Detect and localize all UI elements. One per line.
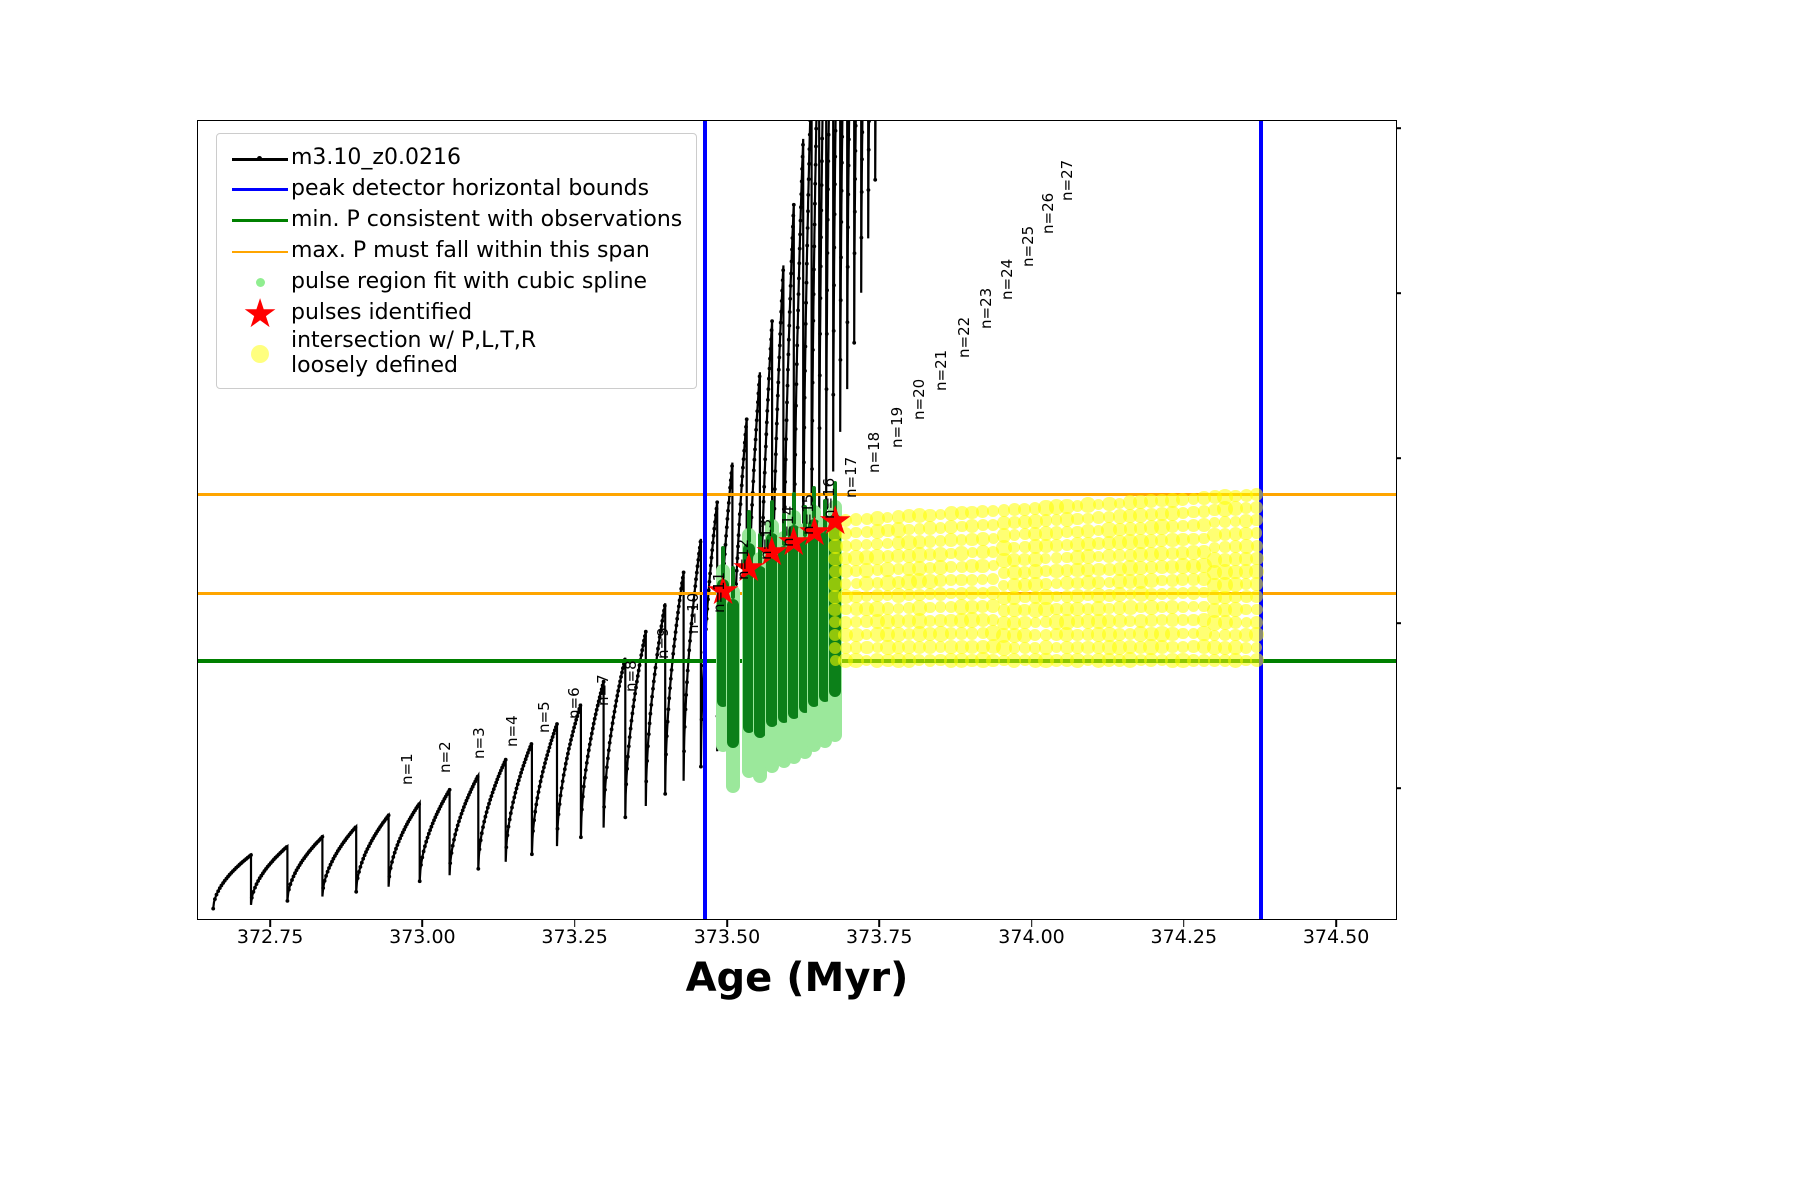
intersection-marker — [1251, 604, 1263, 616]
legend-entry: pulse region fit with cubic spline — [229, 267, 682, 298]
pulse-number-label: n=14 — [779, 506, 797, 547]
pulse-number-label: n=19 — [888, 407, 906, 448]
legend-label: max. P must fall within this span — [291, 239, 650, 264]
pulse-number-label: n=4 — [503, 715, 521, 747]
legend-key-star: ★ — [229, 301, 291, 327]
x-tick-label: 374.50 — [1303, 926, 1369, 948]
pulse-number-label: n=18 — [865, 432, 883, 473]
pulse-number-label: n=13 — [757, 519, 775, 560]
pulse-number-label: n=25 — [1019, 226, 1037, 267]
pulse-number-label: n=20 — [910, 378, 928, 419]
x-tick-label: 373.50 — [694, 926, 760, 948]
legend-key-line — [229, 177, 291, 203]
legend-line-swatch — [232, 188, 288, 191]
legend-entry: peak detector horizontal bounds — [229, 174, 682, 205]
x-tick-label: 372.75 — [237, 926, 303, 948]
legend-line-swatch — [232, 251, 288, 253]
pulse-number-label: n=8 — [622, 660, 640, 692]
pulse-number-label: n=9 — [654, 627, 672, 659]
intersection-marker — [1251, 540, 1263, 552]
legend-point-marker — [257, 156, 262, 161]
pulse-number-label: n=27 — [1058, 160, 1076, 201]
pulse-number-label: n=10 — [684, 593, 702, 634]
pulse-number-label: n=21 — [932, 349, 950, 390]
legend-label: pulses identified — [291, 301, 472, 326]
pulse-region-bar — [727, 599, 739, 747]
legend-label: min. P consistent with observations — [291, 208, 682, 233]
figure-canvas: FM period (days) Age (Myr) 2004006008001… — [0, 0, 1800, 1200]
pulse-number-label: n=16 — [820, 477, 838, 518]
plot-axes: ★★★★★★ n=1n=2n=3n=4n=5n=6n=7n=8n=9n=10n=… — [197, 120, 1397, 920]
pulse-number-label: n=17 — [842, 457, 860, 498]
legend-entry: intersection w/ P,L,T,R loosely defined — [229, 329, 682, 378]
x-tick-label: 373.00 — [389, 926, 455, 948]
legend-key-dot — [229, 341, 291, 367]
legend: m3.10_z0.0216peak detector horizontal bo… — [216, 133, 697, 389]
x-tick-label: 373.25 — [541, 926, 607, 948]
intersection-marker — [1092, 576, 1105, 589]
intersection-marker — [903, 524, 914, 535]
legend-key-line-marker — [229, 146, 291, 172]
legend-dot-swatch — [251, 345, 269, 363]
pulse-number-label: n=7 — [594, 674, 612, 706]
pulse-number-label: n=1 — [398, 753, 416, 785]
pulse-number-label: n=23 — [977, 288, 995, 329]
pulse-number-label: n=5 — [535, 701, 553, 733]
legend-entry: min. P consistent with observations — [229, 205, 682, 236]
legend-label: pulse region fit with cubic spline — [291, 270, 647, 295]
intersection-marker — [1251, 527, 1262, 538]
pulse-number-label: n=12 — [734, 539, 752, 580]
intersection-marker — [1250, 653, 1264, 667]
x-axis-label: Age (Myr) — [197, 955, 1397, 1001]
pulse-number-label: n=11 — [710, 572, 728, 613]
intersection-marker — [1250, 577, 1263, 590]
legend-entry: ★pulses identified — [229, 298, 682, 329]
pulse-number-label: n=3 — [470, 728, 488, 760]
intersection-marker — [840, 578, 851, 589]
pulse-number-label: n=24 — [998, 259, 1016, 300]
pulse-number-label: n=15 — [799, 494, 817, 535]
legend-dot-swatch — [256, 278, 265, 287]
peak-detector-bound — [703, 121, 707, 919]
pulse-number-label: n=22 — [955, 317, 973, 358]
legend-entry: m3.10_z0.0216 — [229, 143, 682, 174]
x-tick-label: 374.00 — [998, 926, 1064, 948]
legend-line-swatch — [232, 219, 288, 222]
x-tick-label: 373.75 — [846, 926, 912, 948]
legend-star-swatch: ★ — [242, 298, 278, 330]
legend-label: m3.10_z0.0216 — [291, 146, 461, 171]
x-tick-label: 374.25 — [1151, 926, 1217, 948]
legend-entry: max. P must fall within this span — [229, 236, 682, 267]
legend-key-line — [229, 239, 291, 265]
legend-label: intersection w/ P,L,T,R loosely defined — [291, 329, 536, 378]
pulse-number-label: n=2 — [436, 741, 454, 773]
legend-key-line — [229, 208, 291, 234]
legend-label: peak detector horizontal bounds — [291, 177, 649, 202]
pulse-number-label: n=6 — [565, 687, 583, 719]
pulse-number-label: n=26 — [1039, 193, 1057, 234]
